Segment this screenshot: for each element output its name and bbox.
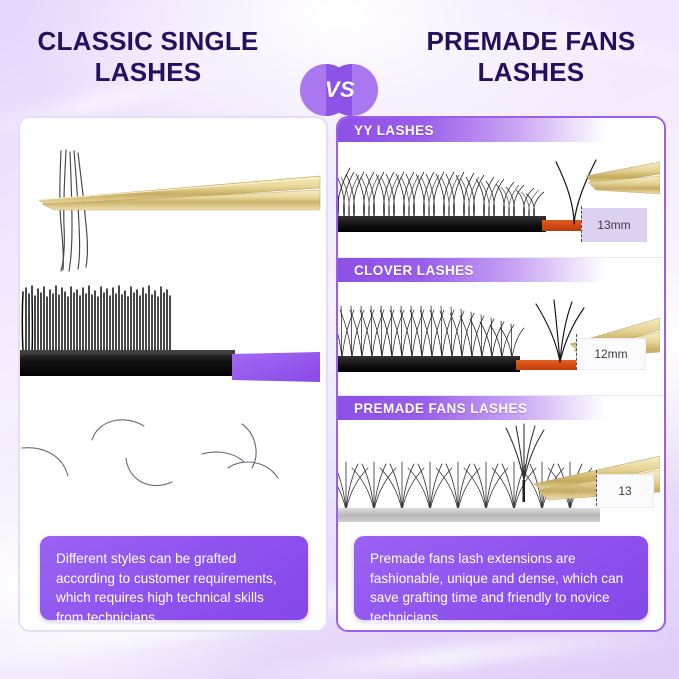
left-caption: Different styles can be grafted accordin… [40, 536, 308, 620]
clover-measure-dashline [576, 334, 577, 370]
clover-lashes-illustration [338, 282, 660, 392]
section-clover-lashes: CLOVER LASHES [338, 258, 664, 396]
header: CLASSIC SINGLE LASHES VS PREMADE FANS LA… [0, 26, 679, 106]
section-premade-fans: PREMADE FANS LASHES [338, 396, 664, 536]
tweezer-single-lash-svg [20, 148, 322, 273]
clover-lashes-svg [338, 282, 660, 392]
premade-measurement-text: 13 [618, 484, 631, 498]
clover-measurement-text: 12mm [594, 347, 627, 361]
yy-measurement-chip: 13mm [581, 208, 647, 242]
classic-lash-tray-illustration [20, 266, 322, 386]
loose-lashes-illustration [20, 406, 322, 526]
vs-label: VS [300, 64, 380, 116]
clover-lashes-label-text: CLOVER LASHES [338, 263, 474, 278]
right-title: PREMADE FANS LASHES [396, 26, 666, 88]
classic-lash-tray-svg [20, 266, 322, 386]
left-title: CLASSIC SINGLE LASHES [13, 26, 283, 88]
premade-measurement-chip: 13 [596, 474, 654, 508]
clover-measurement-chip: 12mm [576, 338, 646, 370]
classic-tweezer-illustration [20, 148, 322, 273]
premade-measure-dashline [596, 470, 597, 506]
section-yy-lashes: YY LASHES [338, 118, 664, 258]
premade-fans-label-text: PREMADE FANS LASHES [338, 401, 527, 416]
yy-measure-dashline [581, 206, 582, 242]
clover-lashes-label: CLOVER LASHES [338, 258, 664, 282]
premade-fans-lashes-panel: YY LASHES [336, 116, 666, 632]
yy-measurement-text: 13mm [597, 218, 630, 232]
infographic-canvas: CLASSIC SINGLE LASHES VS PREMADE FANS LA… [0, 0, 679, 679]
premade-fans-label: PREMADE FANS LASHES [338, 396, 664, 420]
right-caption: Premade fans lash extensions are fashion… [354, 536, 648, 620]
loose-lashes-svg [20, 406, 322, 526]
yy-lashes-label: YY LASHES [338, 118, 664, 142]
classic-single-lashes-panel: Different styles can be grafted accordin… [18, 116, 328, 632]
yy-lashes-label-text: YY LASHES [338, 123, 434, 138]
vs-badge: VS [300, 64, 380, 116]
background-streak [250, 626, 669, 679]
